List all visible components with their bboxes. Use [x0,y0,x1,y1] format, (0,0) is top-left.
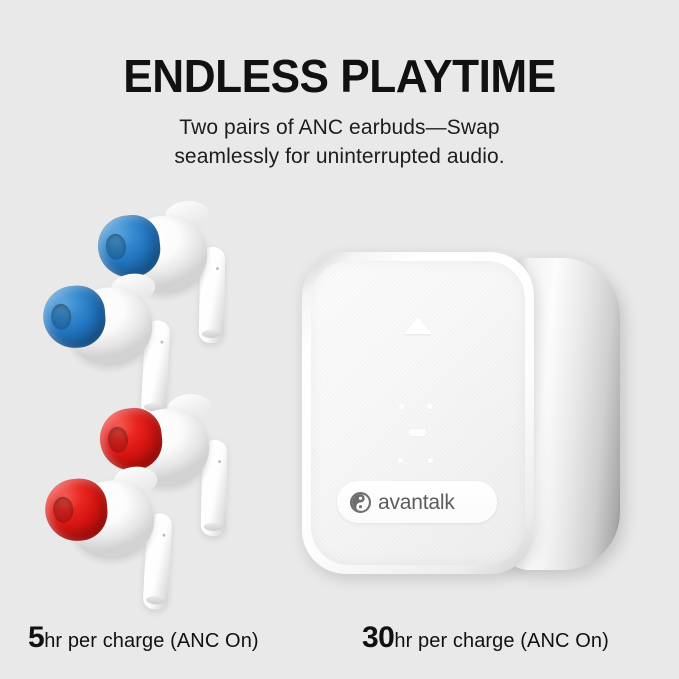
page-title: ENDLESS PLAYTIME [14,52,666,100]
earbuds-group [40,195,300,615]
led-indicator [409,429,426,436]
caption-row: 5 hr per charge (ANC On) 30 hr per charg… [0,621,679,661]
case-front-panel: avantalk [302,252,534,574]
caption-right-number: 30 [362,621,394,655]
subtitle-line-2: seamlessly for uninterrupted audio. [0,143,679,172]
caption-left-text: hr per charge (ANC On) [44,630,259,653]
earbud-red-lower [38,455,200,640]
led-indicator [427,404,432,409]
subtitle-line-1: Two pairs of ANC earbuds—Swap [0,114,679,143]
product-banner: ENDLESS PLAYTIME Two pairs of ANC earbud… [0,0,679,679]
earbud-shell [38,455,200,640]
caption-case-battery: 30 hr per charge (ANC On) [362,621,609,655]
charging-case: avantalk [296,250,626,580]
case-textured-face: avantalk [311,261,525,565]
led-indicator-cluster [383,401,453,481]
brand-badge: avantalk [337,481,497,523]
triangle-up-icon [404,317,432,334]
caption-right-text: hr per charge (ANC On) [394,630,609,653]
header-text-block: ENDLESS PLAYTIME Two pairs of ANC earbud… [0,52,679,172]
led-indicator [428,458,433,463]
brand-name: avantalk [378,492,455,513]
caption-left-number: 5 [28,621,44,655]
caption-earbuds-battery: 5 hr per charge (ANC On) [28,621,259,655]
subtitle: Two pairs of ANC earbuds—Swap seamlessly… [0,114,679,172]
led-indicator [398,458,403,463]
led-indicator [399,404,404,409]
avantalk-logo-icon [350,492,371,513]
